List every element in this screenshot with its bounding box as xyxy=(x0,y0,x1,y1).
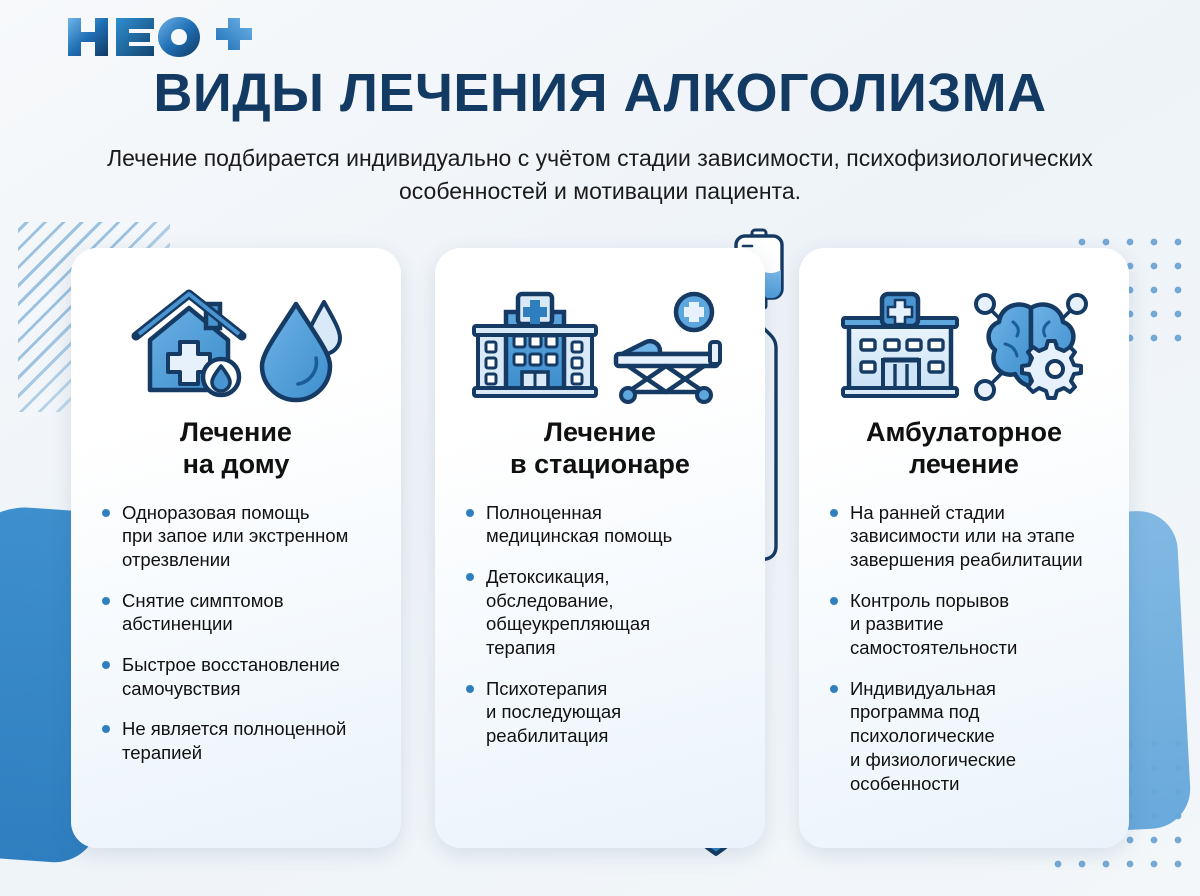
brand-logo xyxy=(66,16,278,58)
list-item: Одноразовая помощь при запое или экстрен… xyxy=(101,501,377,572)
card-bullets: Одноразовая помощь при запое или экстрен… xyxy=(95,501,377,782)
card-outpatient-treatment[interactable]: Амбулаторное лечение На ранней стадии за… xyxy=(799,248,1129,848)
water-drop-icon xyxy=(260,294,342,400)
card-title: Амбулаторное лечение xyxy=(866,416,1062,481)
card-title: Лечение на дому xyxy=(180,416,292,481)
page-subtitle: Лечение подбирается индивидуально с учёт… xyxy=(90,142,1110,207)
card-icons xyxy=(823,288,1105,406)
cards-container: Лечение на дому Одноразовая помощь при з… xyxy=(0,248,1200,848)
card-bullets: Полноценная медицинская помощь Детоксика… xyxy=(459,501,741,765)
list-item: Не является полноценной терапией xyxy=(101,717,377,764)
list-item: Быстрое восстановление самочувствия xyxy=(101,653,377,700)
list-item: На ранней стадии зависимости или на этап… xyxy=(829,501,1105,572)
hospital-bed-icon xyxy=(608,292,726,402)
brain-gear-icon xyxy=(973,292,1089,402)
card-home-treatment[interactable]: Лечение на дому Одноразовая помощь при з… xyxy=(71,248,401,848)
card-icons xyxy=(95,288,377,406)
hospital-building-icon xyxy=(474,292,596,402)
house-medical-icon xyxy=(130,292,248,402)
list-item: Индивидуальная программа под психологиче… xyxy=(829,677,1105,795)
clinic-building-icon xyxy=(839,292,961,402)
list-item: Детоксикация, обследование, общеукрепляю… xyxy=(465,565,741,660)
page-title: ВИДЫ ЛЕЧЕНИЯ АЛКОГОЛИЗМА xyxy=(0,62,1200,124)
list-item: Психотерапия и последующая реабилитация xyxy=(465,677,741,748)
card-title: Лечение в стационаре xyxy=(510,416,690,481)
card-inpatient-treatment[interactable]: Лечение в стационаре Полноценная медицин… xyxy=(435,248,765,848)
card-bullets: На ранней стадии зависимости или на этап… xyxy=(823,501,1105,812)
list-item: Контроль порывов и развитие самостоятель… xyxy=(829,589,1105,660)
infographic-root: ВИДЫ ЛЕЧЕНИЯ АЛКОГОЛИЗМА Лечение подбира… xyxy=(0,0,1200,896)
card-icons xyxy=(459,288,741,406)
list-item: Снятие симптомов абстиненции xyxy=(101,589,377,636)
list-item: Полноценная медицинская помощь xyxy=(465,501,741,548)
